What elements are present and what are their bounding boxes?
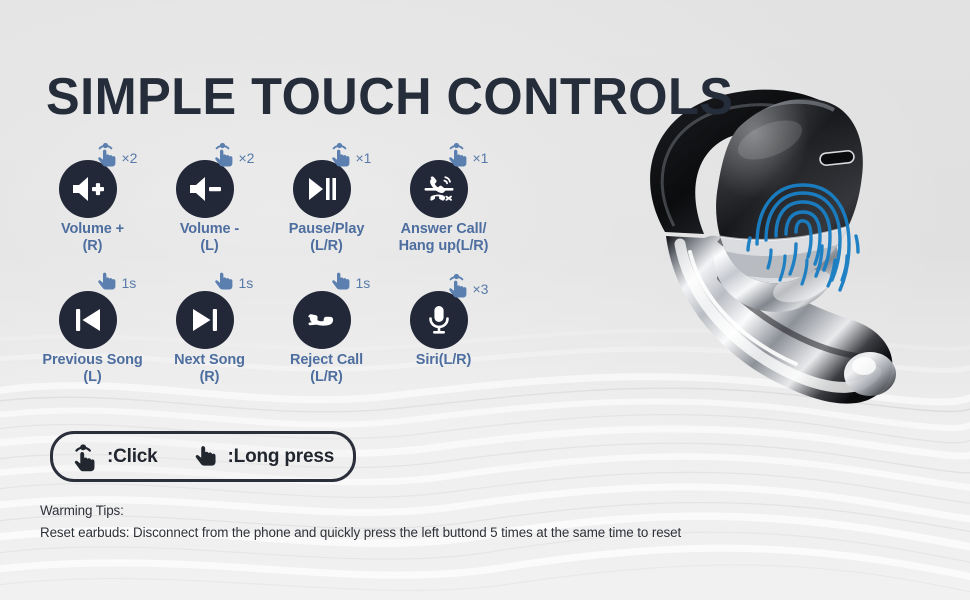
control-label-line2: (L) [42,369,142,386]
control-previous-song[interactable]: 1s Previous Song (L) [34,271,151,386]
control-label-line1: Pause/Play [289,221,365,237]
control-label-line1: Answer Call/ [401,221,487,237]
control-label: Previous Song (L) [42,352,142,386]
long-press-icon [192,444,222,470]
gesture-count: 1s [356,276,371,293]
touch-controls-grid: ×2 Volume + (R) [34,140,524,386]
control-label-line2: Hang up(L/R) [399,238,489,255]
control-label-line2: (L) [180,238,239,255]
legend-long-press: :Long press [192,444,335,470]
gesture-long-press: 1s [212,271,254,293]
control-icon-wrap: ×1 [394,140,494,218]
warning-tips-body: Reset earbuds: Disconnect from the phone… [40,522,681,544]
control-label-line1: Previous Song [42,352,142,368]
reject-call-icon [293,291,351,349]
gesture-click: ×1 [329,140,372,168]
gesture-count: 1s [239,276,254,293]
control-label: Reject Call (L/R) [290,352,363,386]
microphone-icon [410,291,468,349]
infographic-page: SIMPLE TOUCH CONTROLS [0,0,970,600]
control-answer-hangup-call[interactable]: ×1 Answer Call/ Hang up(L/R) [385,140,502,255]
gesture-long-press: 1s [95,271,137,293]
gesture-count: ×2 [122,151,138,168]
control-label: Answer Call/ Hang up(L/R) [399,221,489,255]
control-next-song[interactable]: 1s Next Song (R) [151,271,268,386]
control-label-line1: Reject Call [290,352,363,368]
control-label-line2: (L/R) [290,369,363,386]
control-label-line2: (R) [61,238,124,255]
warning-tips-heading: Warming Tips: [40,500,681,522]
volume-down-icon [176,160,234,218]
control-siri[interactable]: ×3 Siri(L/R) [385,271,502,369]
control-label-line2: (L/R) [289,238,365,255]
answer-hangup-call-icon [410,160,468,218]
click-icon [446,140,472,168]
control-icon-wrap: 1s [160,271,260,349]
gesture-count: ×2 [239,151,255,168]
control-volume-down[interactable]: ×2 Volume - (L) [151,140,268,255]
control-volume-up[interactable]: ×2 Volume + (R) [34,140,151,255]
click-icon [95,140,121,168]
long-press-icon [95,271,121,293]
gesture-count: ×1 [473,151,489,168]
gesture-count: 1s [122,276,137,293]
control-label-line1: Next Song [174,352,245,368]
legend-click-label: :Click [107,446,158,468]
long-press-icon [329,271,355,293]
control-icon-wrap: ×1 [277,140,377,218]
controls-row-1: ×2 Volume + (R) [34,140,524,255]
warning-tips: Warming Tips: Reset earbuds: Disconnect … [40,500,681,543]
control-label-line1: Volume + [61,221,124,237]
next-track-icon [176,291,234,349]
control-label-line2: (R) [174,369,245,386]
control-label-line1: Volume - [180,221,239,237]
click-icon [212,140,238,168]
gesture-click: ×2 [95,140,138,168]
gesture-click: ×2 [212,140,255,168]
control-label-line1: Siri(L/R) [416,352,472,368]
control-label: Siri(L/R) [416,352,472,369]
control-icon-wrap: 1s [277,271,377,349]
control-pause-play[interactable]: ×1 Pause/Play (L/R) [268,140,385,255]
play-pause-icon [293,160,351,218]
gesture-click: ×1 [446,140,489,168]
click-icon [446,271,472,299]
previous-track-icon [59,291,117,349]
control-label: Next Song (R) [174,352,245,386]
volume-up-icon [59,160,117,218]
control-icon-wrap: ×2 [43,140,143,218]
gesture-click: ×3 [446,271,489,299]
control-icon-wrap: ×2 [160,140,260,218]
control-icon-wrap: 1s [43,271,143,349]
control-label: Volume + (R) [61,221,124,255]
legend-click: :Click [71,441,158,473]
controls-row-2: 1s Previous Song (L) [34,271,524,386]
control-label: Pause/Play (L/R) [289,221,365,255]
page-title: SIMPLE TOUCH CONTROLS [46,67,733,127]
gesture-count: ×3 [473,282,489,299]
click-icon [329,140,355,168]
gesture-long-press: 1s [329,271,371,293]
control-icon-wrap: ×3 [394,271,494,349]
control-reject-call[interactable]: 1s Reject Call (L/R) [268,271,385,386]
gesture-legend: :Click :Long press [50,431,356,482]
gesture-count: ×1 [356,151,372,168]
control-label: Volume - (L) [180,221,239,255]
long-press-icon [212,271,238,293]
click-icon [71,441,101,473]
legend-long-press-label: :Long press [228,446,335,468]
